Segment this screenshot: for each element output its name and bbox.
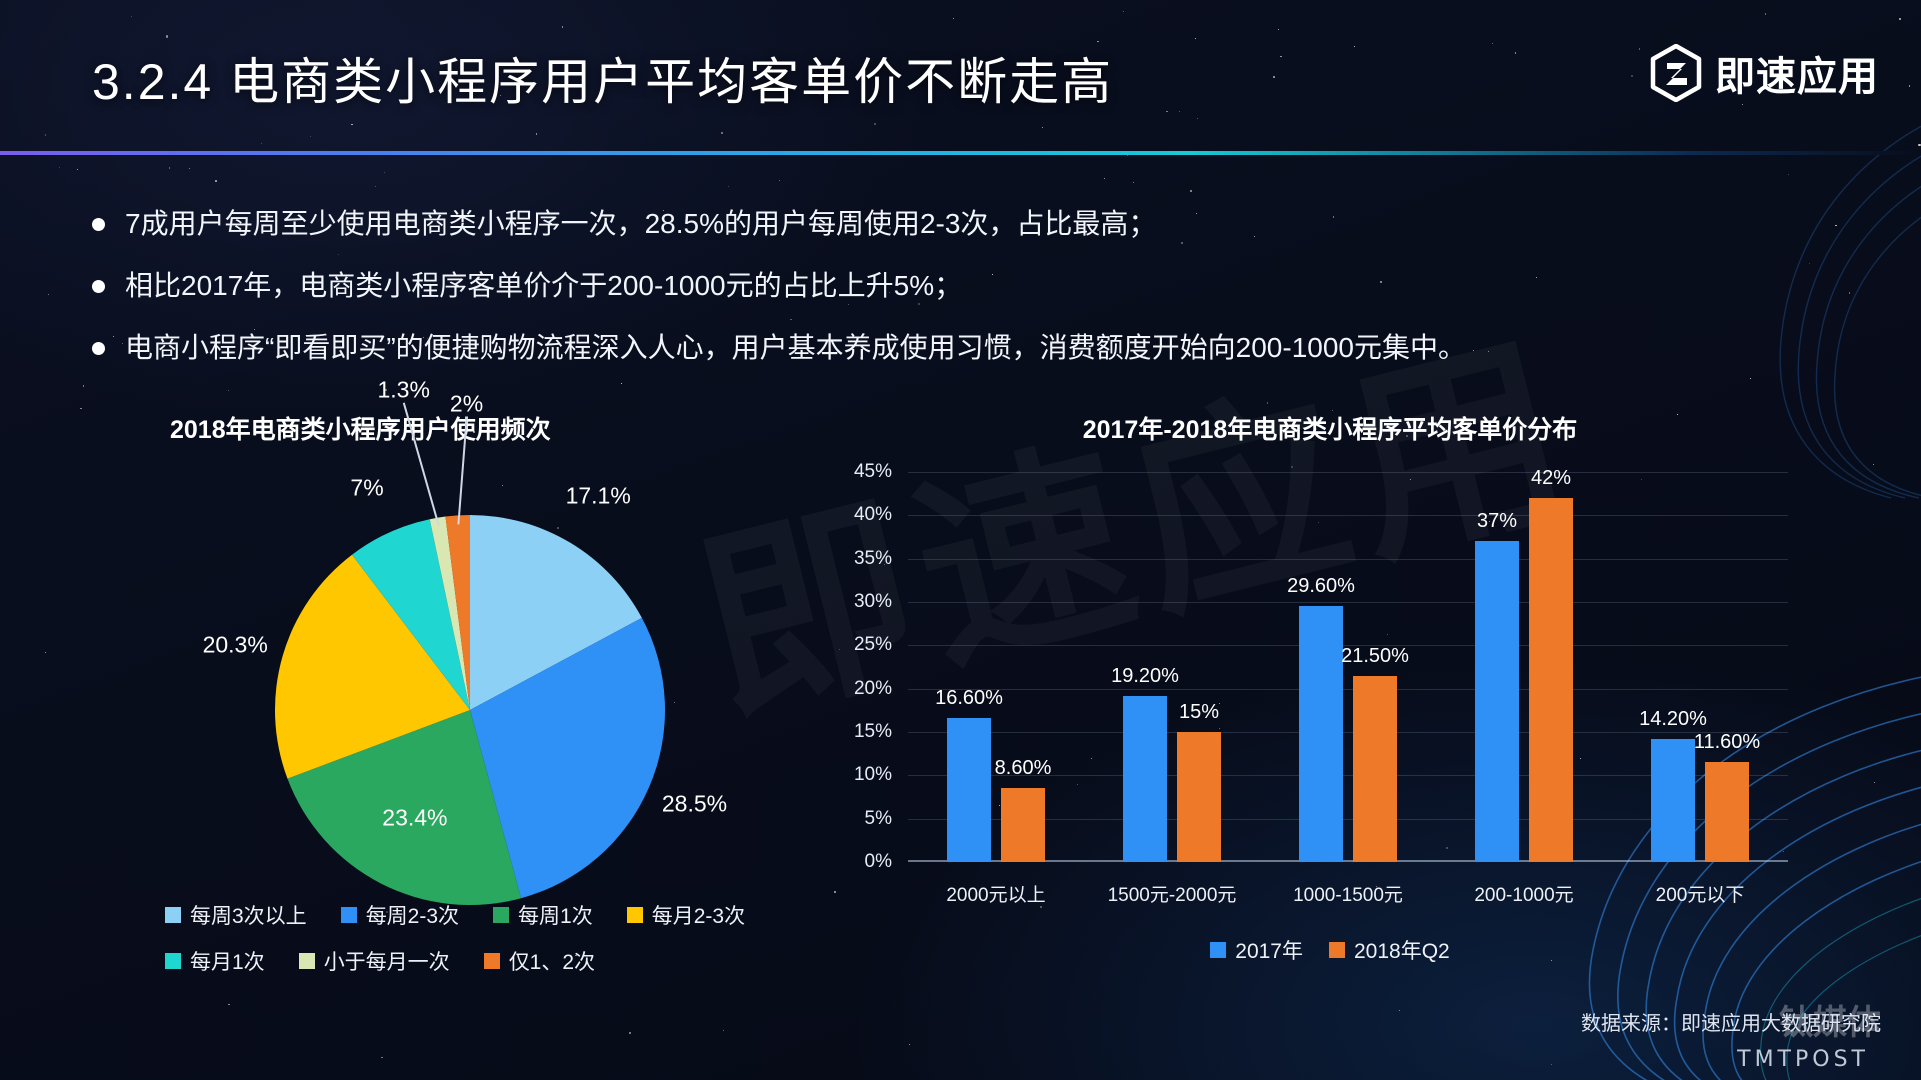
legend-item[interactable]: 仅1、2次 [484, 946, 595, 976]
y-axis-tick-label: 25% [854, 634, 892, 656]
bullet-list: 7成用户每周至少使用电商类小程序一次，28.5%的用户每周使用2-3次，占比最高… [92, 205, 1832, 390]
legend-item[interactable]: 每月2-3次 [627, 900, 745, 930]
bar-value-label: 16.60% [935, 687, 1003, 710]
brand-name: 即速应用 [1715, 44, 1879, 102]
bar-value-label: 8.60% [995, 757, 1052, 780]
legend-swatch-icon [493, 907, 509, 923]
y-axis-tick-label: 5% [865, 808, 892, 830]
bullet-dot-icon [92, 280, 105, 293]
legend-item[interactable]: 每月1次 [165, 946, 265, 976]
bar[interactable]: 11.60% [1705, 762, 1749, 863]
y-axis-tick-label: 10% [854, 764, 892, 786]
bullet-text: 7成用户每周至少使用电商类小程序一次，28.5%的用户每周使用2-3次，占比最高… [125, 205, 1156, 243]
bar-group: 14.20%11.60%200元以下 [1612, 472, 1788, 862]
bar[interactable]: 37% [1475, 541, 1519, 862]
bar-group: 29.60%21.50%1000-1500元 [1260, 472, 1436, 862]
bar[interactable]: 19.20% [1123, 696, 1167, 862]
legend-swatch-icon [484, 953, 500, 969]
x-axis-category-label: 200-1000元 [1436, 880, 1612, 907]
header-accent-rule [0, 151, 1921, 155]
legend-item[interactable]: 小于每月一次 [299, 946, 450, 976]
bullet-dot-icon [92, 342, 105, 355]
bullet-item: 电商小程序“即看即买”的便捷购物流程深入人心，用户基本养成使用习惯，消费额度开始… [92, 329, 1832, 367]
legend-swatch-icon [1210, 942, 1226, 958]
y-axis-tick-label: 20% [854, 678, 892, 700]
legend-item[interactable]: 2018年Q2 [1329, 935, 1450, 965]
bar-chart-plot: 0%5%10%15%20%25%30%35%40%45%16.60%8.60%2… [908, 472, 1788, 862]
bar[interactable]: 8.60% [1001, 788, 1045, 863]
bar-chart-panel: 2017年-2018年电商类小程序平均客单价分布 0%5%10%15%20%25… [800, 400, 1860, 1000]
pie-chart-panel: 2018年电商类小程序用户使用频次 17.1%28.5%23.4%20.3%7%… [110, 400, 850, 960]
x-axis-category-label: 1000-1500元 [1260, 880, 1436, 907]
pie-slice-label: 1.3% [377, 376, 429, 403]
legend-item[interactable]: 每周1次 [493, 900, 593, 930]
pie-slice-label: 28.5% [662, 791, 727, 818]
bar[interactable]: 15% [1177, 732, 1221, 862]
pie-slice-label: 2% [450, 390, 483, 417]
legend-swatch-icon [627, 907, 643, 923]
hex-z-logo-icon [1649, 44, 1703, 102]
legend-item[interactable]: 每周2-3次 [341, 900, 459, 930]
brand-logo: 即速应用 [1649, 44, 1879, 102]
bullet-item: 7成用户每周至少使用电商类小程序一次，28.5%的用户每周使用2-3次，占比最高… [92, 205, 1832, 243]
legend-label: 小于每月一次 [324, 946, 450, 976]
y-axis-tick-label: 0% [865, 851, 892, 873]
pie-slice-label: 20.3% [203, 632, 268, 659]
legend-swatch-icon [165, 953, 181, 969]
bullet-text: 相比2017年，电商类小程序客单价介于200-1000元的占比上升5%； [125, 267, 962, 305]
bullet-text: 电商小程序“即看即买”的便捷购物流程深入人心，用户基本养成使用习惯，消费额度开始… [125, 329, 1466, 367]
bar-value-label: 19.20% [1111, 665, 1179, 688]
pie-slice-label: 17.1% [566, 482, 631, 509]
legend-item[interactable]: 每周3次以上 [165, 900, 307, 930]
pie-chart-svg [260, 500, 680, 920]
legend-label: 每周2-3次 [366, 900, 459, 930]
legend-label: 2018年Q2 [1354, 935, 1450, 965]
legend-label: 2017年 [1235, 935, 1303, 965]
pie-chart-area: 17.1%28.5%23.4%20.3%7%1.3%2% [260, 500, 680, 920]
bar[interactable]: 29.60% [1299, 606, 1343, 863]
bar-group: 16.60%8.60%2000元以上 [908, 472, 1084, 862]
y-axis-tick-label: 15% [854, 721, 892, 743]
bar[interactable]: 21.50% [1353, 676, 1397, 862]
legend-label: 每周3次以上 [190, 900, 307, 930]
bullet-dot-icon [92, 218, 105, 231]
bar-chart-legend: 2017年2018年Q2 [800, 935, 1860, 965]
legend-label: 每月2-3次 [652, 900, 745, 930]
pie-slice-label: 7% [350, 474, 383, 501]
tmtpost-logo: TMTPOST [1737, 1047, 1869, 1072]
bar-value-label: 14.20% [1639, 708, 1707, 731]
y-axis-tick-label: 40% [854, 504, 892, 526]
bar[interactable]: 14.20% [1651, 739, 1695, 862]
slide-root: 即速应用 3.2.4 电商类小程序用户平均客单价不断走高 即速应用 7成用户每周… [0, 0, 1921, 1080]
bar-group: 19.20%15%1500元-2000元 [1084, 472, 1260, 862]
legend-swatch-icon [341, 907, 357, 923]
legend-label: 每月1次 [190, 946, 265, 976]
legend-swatch-icon [299, 953, 315, 969]
legend-swatch-icon [1329, 942, 1345, 958]
legend-item[interactable]: 2017年 [1210, 935, 1303, 965]
gridline: 0% [908, 862, 1788, 863]
bar-value-label: 37% [1477, 510, 1517, 533]
slide-header: 3.2.4 电商类小程序用户平均客单价不断走高 即速应用 [0, 0, 1921, 152]
bar-value-label: 11.60% [1694, 731, 1760, 754]
bar-group: 37%42%200-1000元 [1436, 472, 1612, 862]
bar-value-label: 42% [1531, 467, 1571, 490]
bar[interactable]: 16.60% [947, 718, 991, 862]
legend-label: 每周1次 [518, 900, 593, 930]
pie-slice-label: 23.4% [382, 804, 447, 831]
y-axis-tick-label: 30% [854, 591, 892, 613]
bullet-item: 相比2017年，电商类小程序客单价介于200-1000元的占比上升5%； [92, 267, 1832, 305]
pie-chart-legend: 每周3次以上每周2-3次每周1次每月2-3次每月1次小于每月一次仅1、2次 [165, 900, 825, 992]
x-axis-category-label: 1500元-2000元 [1084, 880, 1260, 907]
page-title: 3.2.4 电商类小程序用户平均客单价不断走高 [92, 42, 1113, 114]
bar-value-label: 15% [1179, 701, 1219, 724]
bar-value-label: 21.50% [1341, 645, 1409, 668]
pie-chart-title: 2018年电商类小程序用户使用频次 [170, 410, 551, 446]
y-axis-tick-label: 35% [854, 548, 892, 570]
bar-value-label: 29.60% [1287, 575, 1355, 598]
x-axis-category-label: 2000元以上 [908, 880, 1084, 907]
x-axis-category-label: 200元以下 [1612, 880, 1788, 907]
legend-label: 仅1、2次 [509, 946, 595, 976]
bar[interactable]: 42% [1529, 498, 1573, 862]
bar-chart-title: 2017年-2018年电商类小程序平均客单价分布 [800, 410, 1860, 446]
y-axis-tick-label: 45% [854, 461, 892, 483]
legend-swatch-icon [165, 907, 181, 923]
data-source-text: 数据来源：即速应用大数据研究院 [1581, 1007, 1881, 1036]
